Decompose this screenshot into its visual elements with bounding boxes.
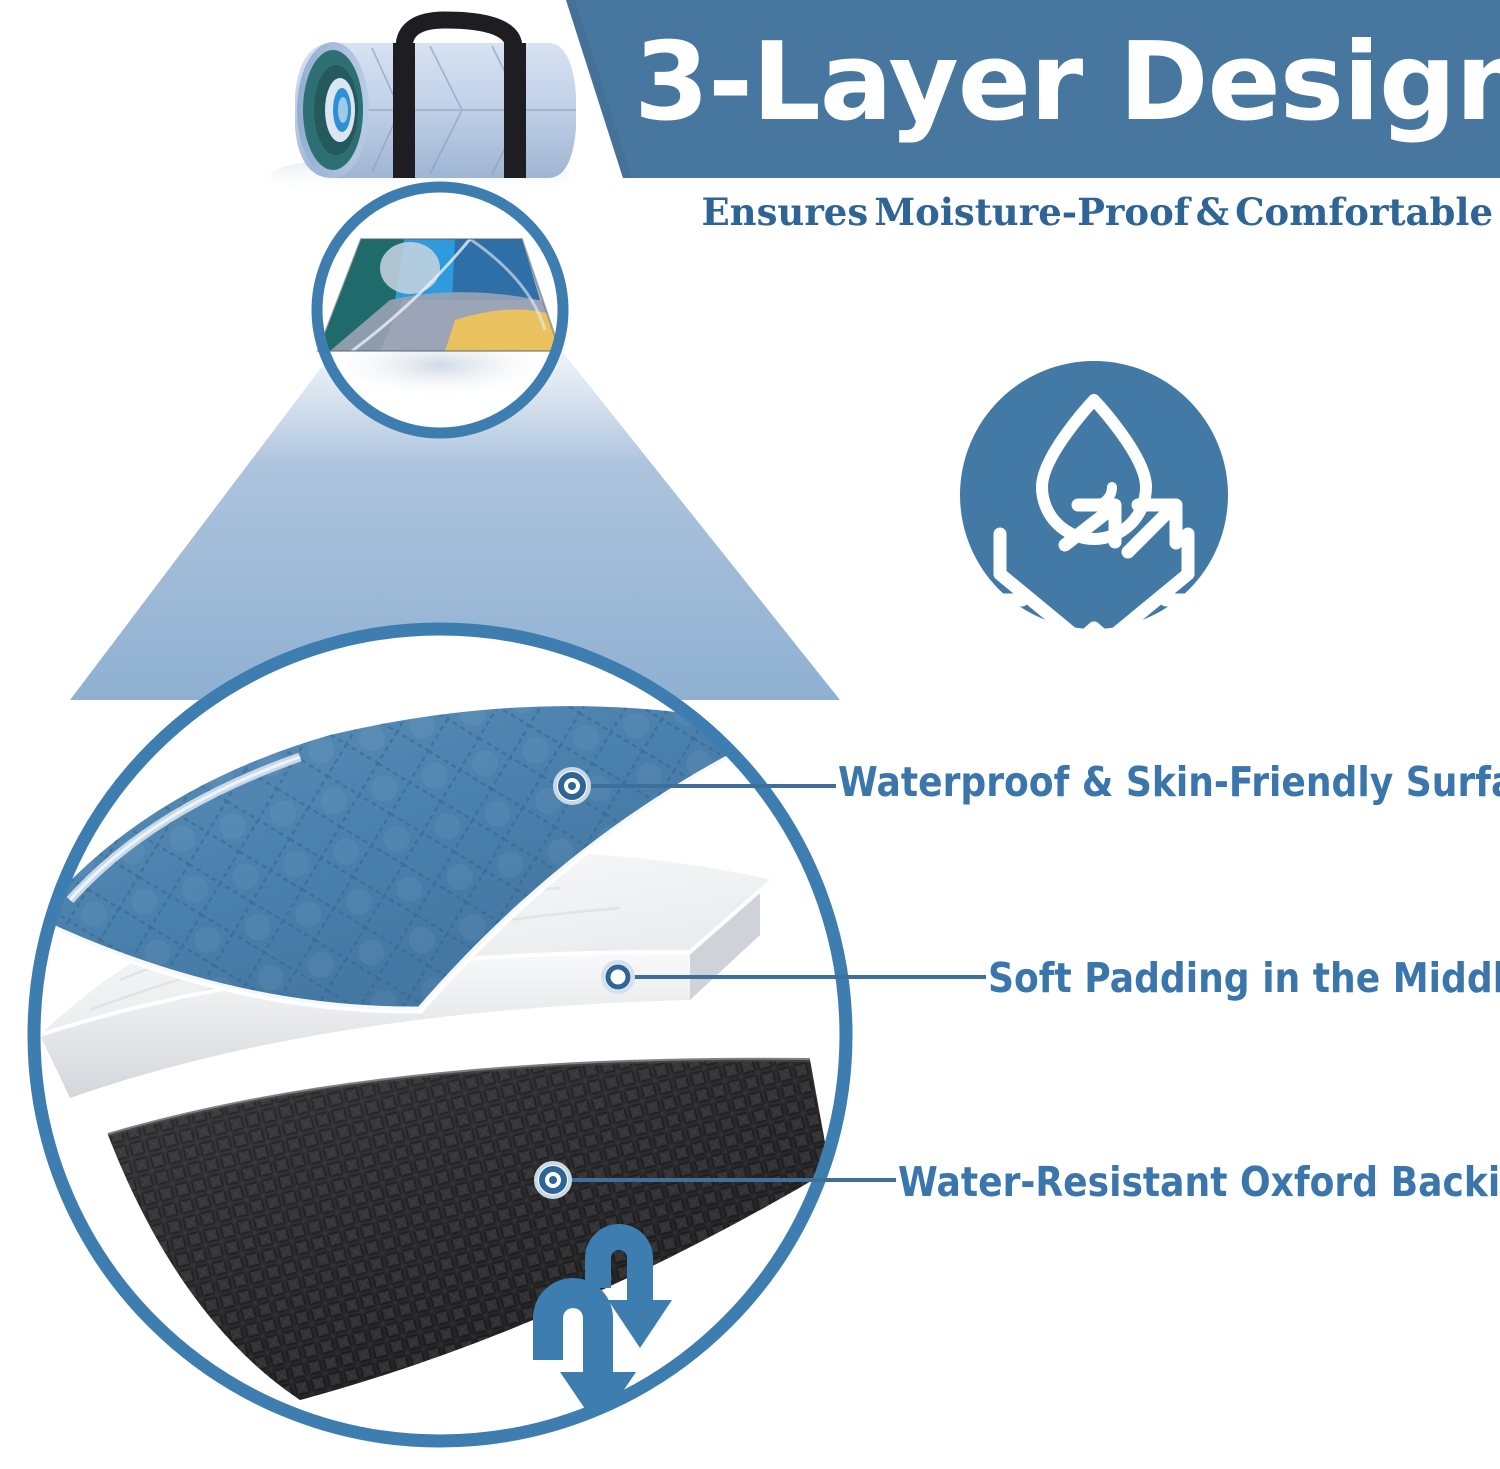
page-subtitle: Ensures Moisture-Proof & Comfortable [630,184,1496,240]
page-title: 3-Layer Design [634,8,1494,158]
callout-marker-backing [536,1163,570,1197]
rolled-mat-image [270,20,576,198]
subtitle-word-3: & [1196,190,1229,234]
layer-label-surface: Waterproof & Skin-Friendly Surface [838,762,1500,803]
subtitle-word-1: Ensures [701,190,868,234]
layer-label-padding: Soft Padding in the Middle [988,958,1500,999]
layer-label-backing: Water-Resistant Oxford Backing [898,1162,1500,1203]
subtitle-word-2: Moisture-Proof [874,190,1190,234]
water-repellent-badge [960,361,1228,690]
subtitle-word-4: Comfortable [1235,190,1493,234]
callout-marker-surface [555,769,589,803]
callout-marker-padding [603,962,633,992]
layer-stack-detail [20,620,880,1450]
infographic-canvas: 3-Layer Design Ensures Moisture-Proof & … [0,0,1500,1469]
